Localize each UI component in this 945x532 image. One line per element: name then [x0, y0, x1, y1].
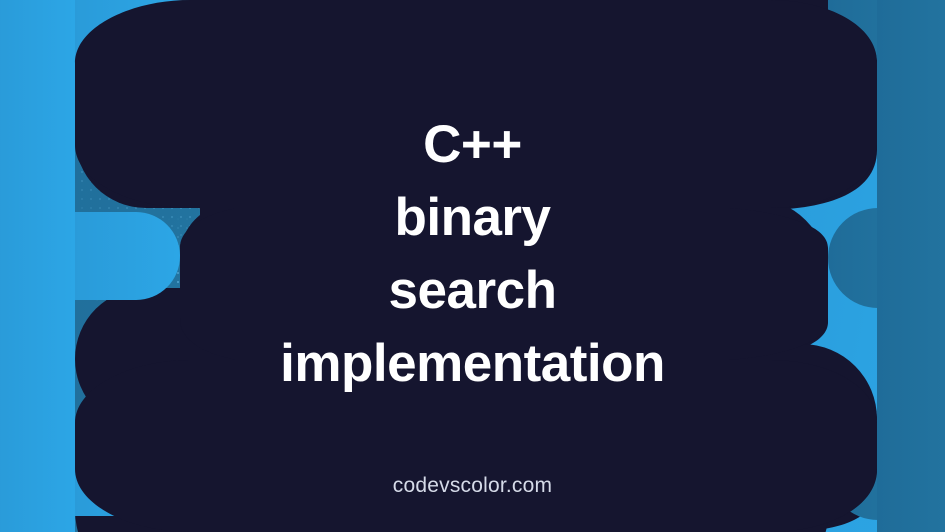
headline-line-2: binary — [120, 181, 825, 254]
site-credit: codevscolor.com — [0, 474, 945, 498]
headline-line-4: implementation — [120, 327, 825, 400]
banner-canvas: C++ binary search implementation codevsc… — [0, 0, 945, 532]
banner-content: C++ binary search implementation codevsc… — [0, 0, 945, 532]
headline-line-1: C++ — [120, 108, 825, 181]
page-title: C++ binary search implementation — [0, 108, 945, 400]
headline-line-3: search — [120, 254, 825, 327]
